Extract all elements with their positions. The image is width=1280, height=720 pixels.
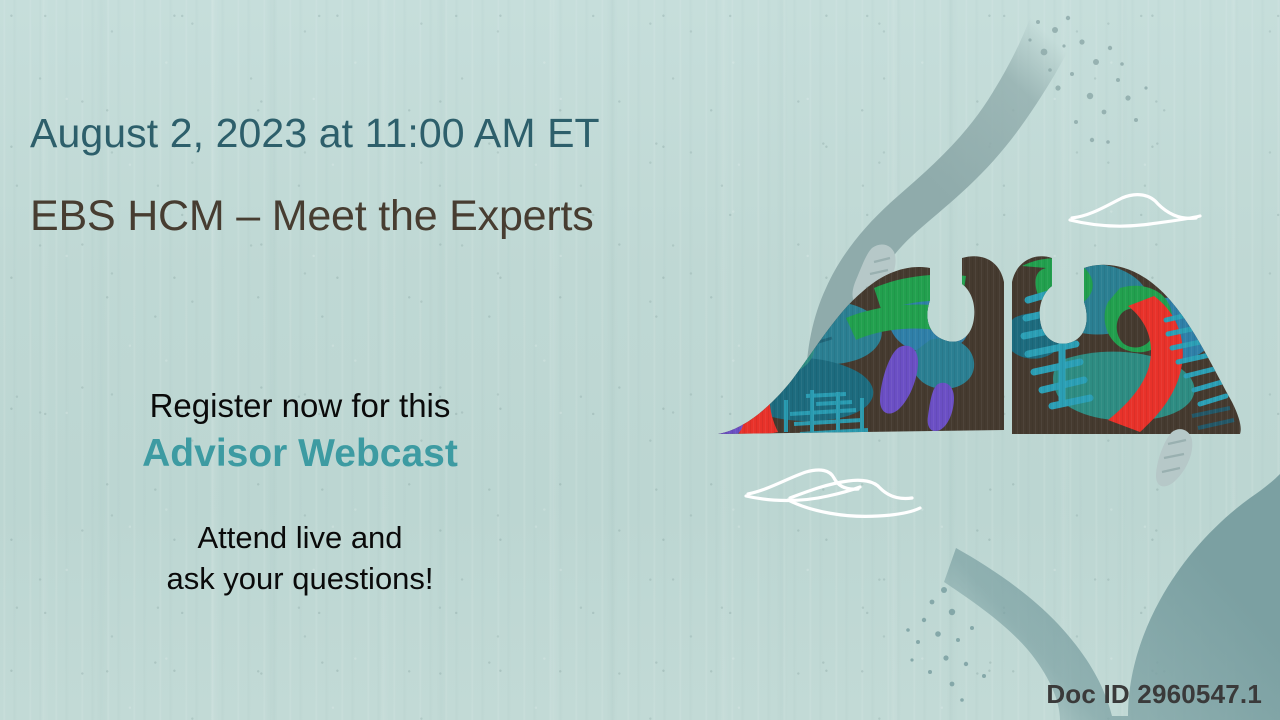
cta-attend-line-2: ask your questions! xyxy=(30,559,570,600)
cta-attend-line-1: Attend live and xyxy=(30,518,570,559)
page-title: EBS HCM – Meet the Experts xyxy=(30,192,594,241)
webcast-slide: August 2, 2023 at 11:00 AM ET EBS HCM – … xyxy=(0,0,1280,720)
cta-attend-block: Attend live and ask your questions! xyxy=(30,518,570,600)
call-to-action-block: Register now for this Advisor Webcast At… xyxy=(30,388,570,599)
cta-register-label: Register now for this xyxy=(30,388,570,425)
webcast-date-time: August 2, 2023 at 11:00 AM ET xyxy=(30,110,600,157)
cta-advisor-webcast-label: Advisor Webcast xyxy=(30,432,570,476)
doc-id-label: Doc ID 2960547.1 xyxy=(1046,679,1262,710)
slide-text-layer: August 2, 2023 at 11:00 AM ET EBS HCM – … xyxy=(0,0,1280,720)
